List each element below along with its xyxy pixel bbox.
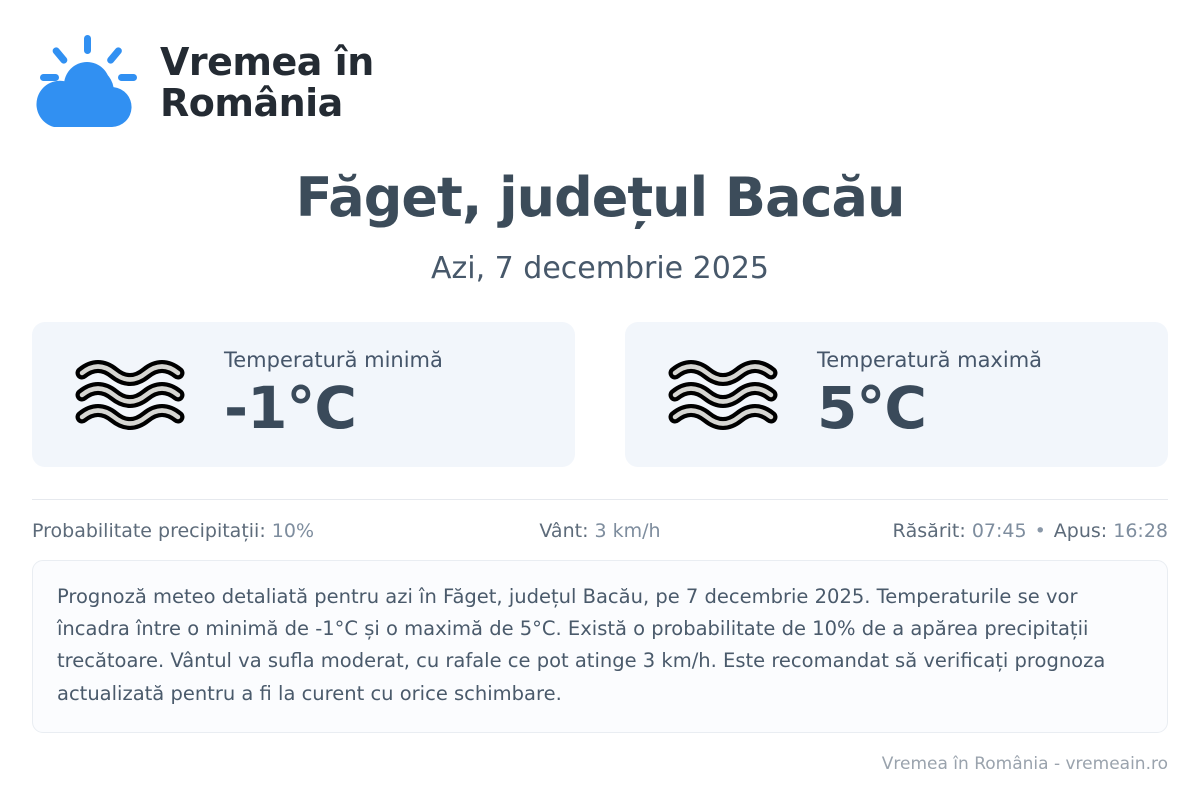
card-body: Temperatură minimă -1°C [224,348,443,440]
stat-separator-dot: • [1027,520,1054,542]
stat-precipitation-value: 10% [272,520,314,542]
brand-name-line2: România [160,83,374,124]
stat-sun-times: Răsărit: 07:45•Apus: 16:28 [789,520,1168,542]
footer-credit: Vremea în România - vremeain.ro [882,754,1168,774]
stat-precipitation-label: Probabilitate precipitații: [32,520,272,542]
stat-wind: Vânt: 3 km/h [411,520,790,542]
stat-wind-label: Vânt: [539,520,594,542]
page-title: Făget, județul Bacău [32,166,1168,229]
sun-behind-cloud-icon [32,33,142,133]
page-subtitle: Azi, 7 decembrie 2025 [32,251,1168,286]
card-value-max: 5°C [817,376,1042,441]
temperature-cards: Temperatură minimă -1°C Temperatură maxi… [32,322,1168,467]
card-temperature-min: Temperatură minimă -1°C [32,322,575,467]
card-temperature-max: Temperatură maximă 5°C [625,322,1168,467]
card-label-min: Temperatură minimă [224,348,443,373]
brand-name: Vremea în România [160,42,374,124]
fog-icon [661,356,791,434]
stat-sunset-value: 16:28 [1113,520,1168,542]
stat-sunset-label: Apus: [1054,520,1113,542]
card-label-max: Temperatură maximă [817,348,1042,373]
weather-page: Vremea în România Făget, județul Bacău A… [0,0,1200,800]
stat-sunrise-label: Răsărit: [892,520,971,542]
stat-wind-value: 3 km/h [595,520,661,542]
card-value-min: -1°C [224,376,443,441]
brand-name-line1: Vremea în [160,42,374,83]
fog-icon [68,356,198,434]
card-body: Temperatură maximă 5°C [817,348,1042,440]
forecast-description: Prognoză meteo detaliată pentru azi în F… [32,560,1168,733]
weather-stats-row: Probabilitate precipitații: 10% Vânt: 3 … [32,499,1168,542]
site-header: Vremea în România [32,0,1168,118]
stat-precipitation: Probabilitate precipitații: 10% [32,520,411,542]
stat-sunrise-value: 07:45 [972,520,1027,542]
